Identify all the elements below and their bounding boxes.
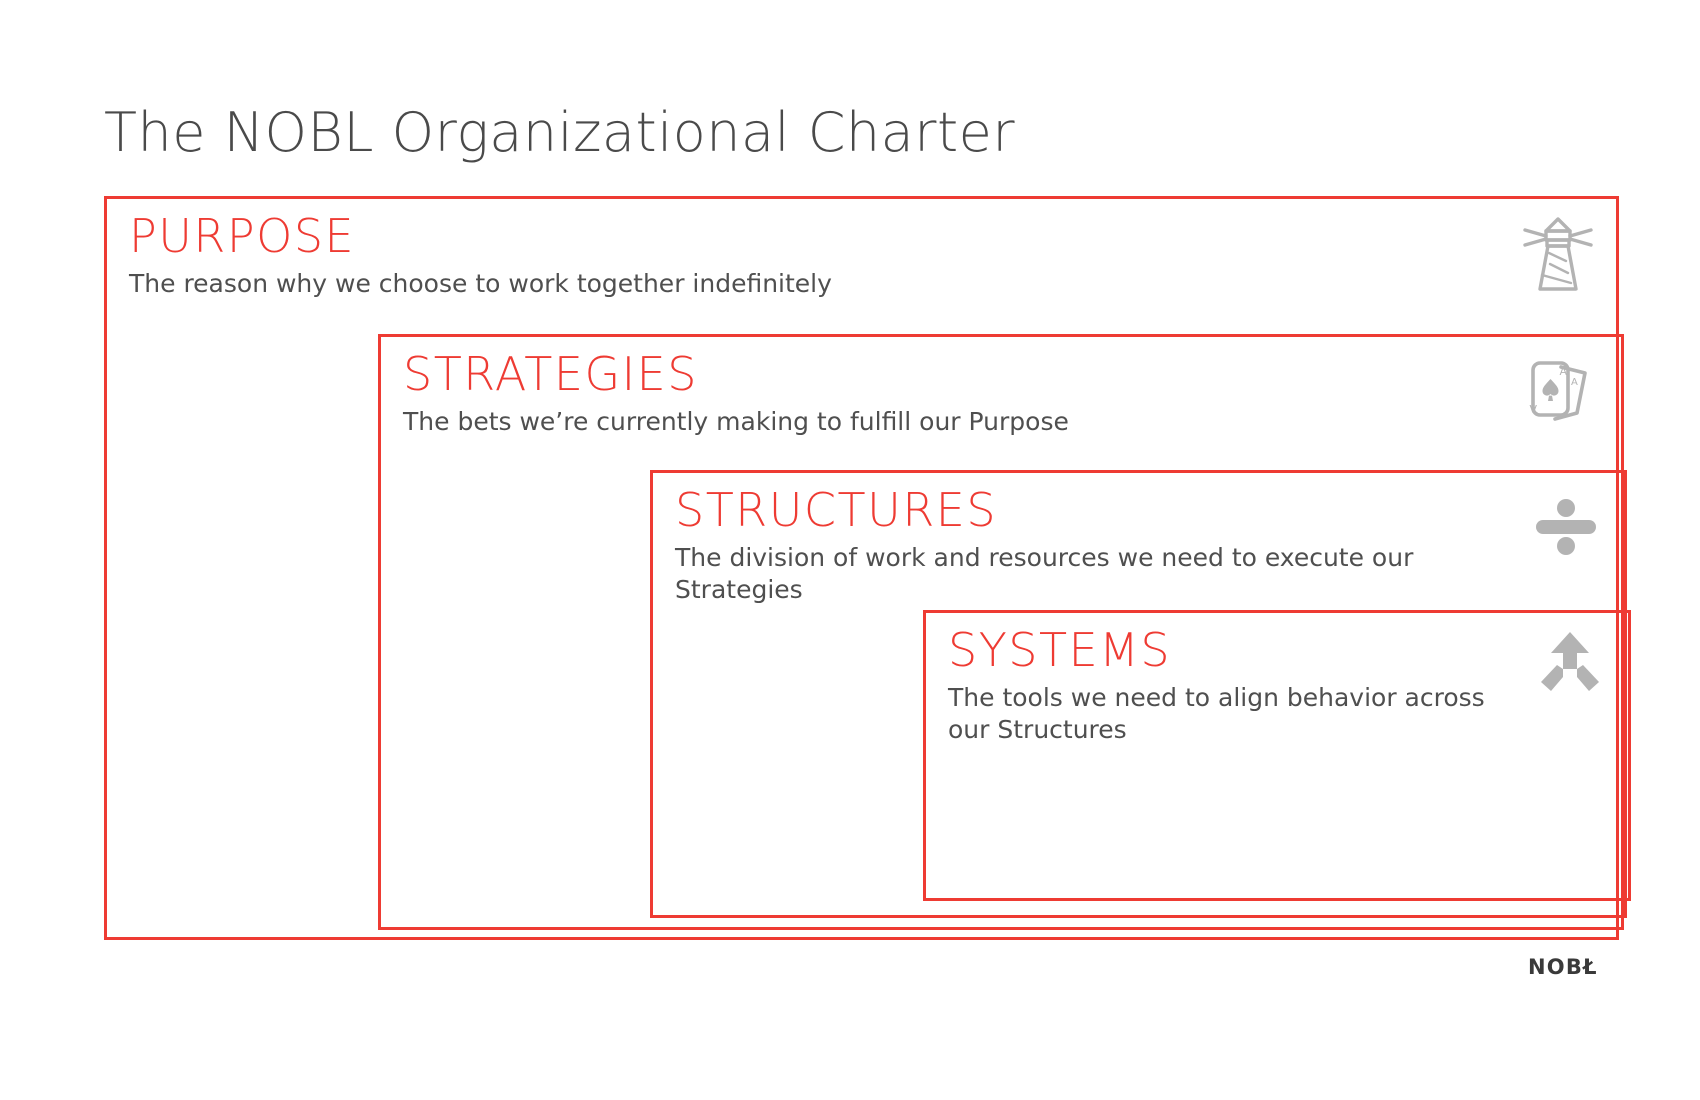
divide-icon <box>1528 487 1604 567</box>
svg-text:A: A <box>1571 377 1578 388</box>
purpose-description: The reason why we choose to work togethe… <box>129 268 1488 300</box>
svg-text:A: A <box>1560 365 1568 378</box>
systems-description: The tools we need to align behavior acro… <box>948 682 1500 745</box>
purpose-text-block: PURPOSE The reason why we choose to work… <box>129 209 1488 300</box>
strategies-text-block: STRATEGIES The bets we’re currently maki… <box>403 347 1493 438</box>
playing-cards-icon: A A A <box>1525 351 1601 431</box>
charter-diagram: The NOBL Organizational Charter PURPOSE … <box>0 0 1700 1100</box>
lighthouse-icon <box>1520 213 1596 293</box>
svg-text:A: A <box>1529 402 1537 415</box>
systems-heading: SYSTEMS <box>948 623 1500 677</box>
merge-arrows-icon <box>1532 627 1608 707</box>
page-title: The NOBL Organizational Charter <box>104 101 1015 164</box>
structures-text-block: STRUCTURES The division of work and reso… <box>675 483 1496 605</box>
systems-text-block: SYSTEMS The tools we need to align behav… <box>948 623 1500 745</box>
structures-heading: STRUCTURES <box>675 483 1496 537</box>
charter-box-systems: SYSTEMS The tools we need to align behav… <box>923 610 1631 901</box>
structures-description: The division of work and resources we ne… <box>675 542 1496 605</box>
nobl-logo: NOBŁ <box>1528 955 1598 979</box>
strategies-heading: STRATEGIES <box>403 347 1493 401</box>
purpose-heading: PURPOSE <box>129 209 1488 263</box>
strategies-description: The bets we’re currently making to fulfi… <box>403 406 1493 438</box>
